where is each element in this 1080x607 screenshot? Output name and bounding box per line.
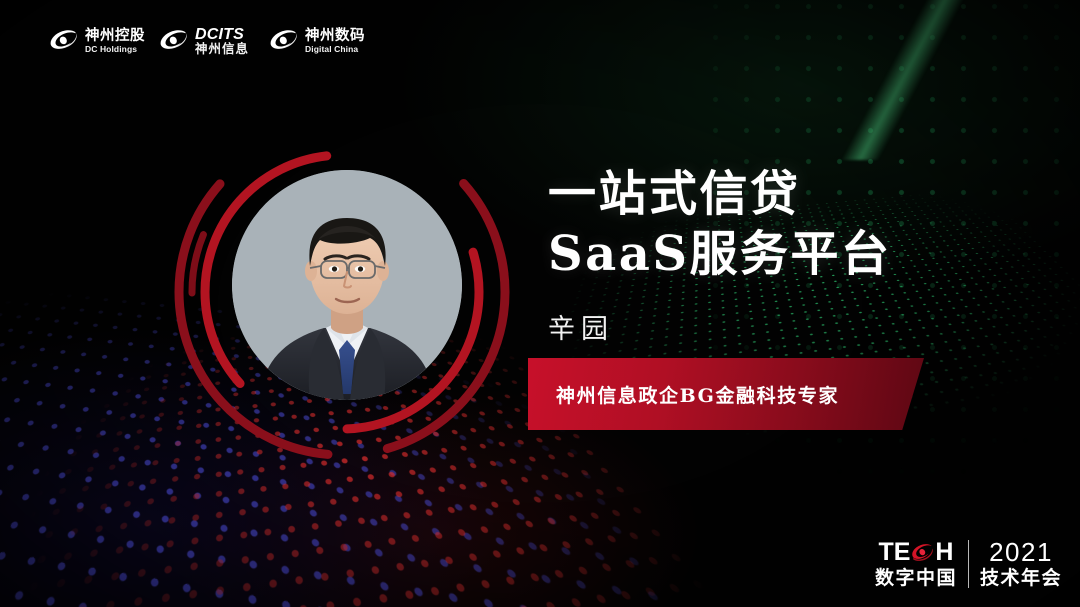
event-year-cn: 技术年会 [980, 569, 1062, 589]
logo-name-cn-sub: 神州信息 [195, 43, 249, 57]
event-name-cn: 数字中国 [875, 569, 957, 589]
tech-wordmark: TE H [878, 539, 953, 566]
speaker-role: 神州信息政企BG金融科技专家 [556, 381, 839, 408]
speaker-portrait [182, 128, 502, 448]
event-year: 2021 [989, 539, 1053, 566]
logo-bar: 神州控股 DC Holdings DCITS 神州信息 神州数码 [48, 26, 378, 57]
logo-name-en: DC Holdings [85, 45, 145, 54]
tech-wordmark-right: H [935, 539, 953, 565]
page-title-line-1: 一站式信贷 [548, 164, 892, 224]
dcits-swirl-icon [268, 29, 298, 53]
tech-swirl-icon [911, 542, 934, 565]
logo-text: DCITS 神州信息 [195, 26, 249, 57]
logo-name-cn: 神州控股 [85, 29, 145, 45]
event-logo: TE H 数字中国 2021 技术年会 [875, 539, 1062, 589]
logo-name-wordmark: DCITS [195, 26, 249, 43]
logo-text: 神州数码 Digital China [305, 29, 365, 54]
conference-title-slide: 神州控股 DC Holdings DCITS 神州信息 神州数码 [0, 0, 1080, 607]
logo-dcits: DCITS 神州信息 [158, 26, 268, 57]
dcits-swirl-icon [48, 29, 78, 53]
event-logo-tech: TE H 数字中国 [875, 539, 957, 589]
tech-wordmark-left: TE [878, 539, 910, 565]
logo-digital-china: 神州数码 Digital China [268, 29, 378, 54]
green-light-streak [790, 0, 1020, 160]
title-text-block: 一站式信贷 SaaS服务平台 辛园 [548, 164, 892, 346]
dcits-swirl-icon [158, 29, 188, 53]
event-logo-year: 2021 技术年会 [980, 539, 1062, 589]
logo-text: 神州控股 DC Holdings [85, 29, 145, 54]
event-logo-divider [968, 540, 969, 588]
speaker-photo [232, 170, 462, 400]
logo-name-cn: 神州数码 [305, 29, 365, 45]
page-title-line-2: SaaS服务平台 [548, 224, 892, 284]
logo-dc-holdings: 神州控股 DC Holdings [48, 29, 158, 54]
logo-name-en: Digital China [305, 45, 365, 54]
speaker-name: 辛园 [548, 307, 892, 346]
headshot-illustration [232, 170, 462, 400]
